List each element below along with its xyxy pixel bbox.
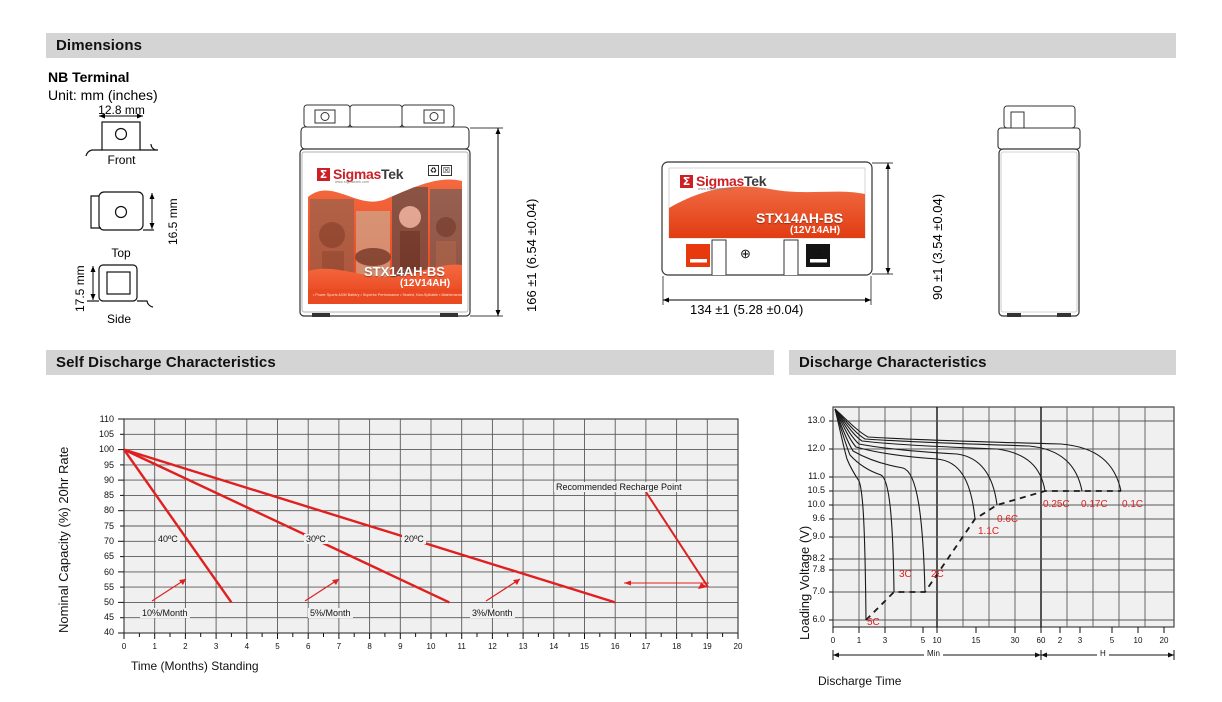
brand-url: www.sigmastek.com [335,180,369,184]
brand-url: www.sigmastek.com [698,187,732,191]
x-tick-8: 8 [360,642,380,651]
dx-tick-30: 30 [1007,636,1023,645]
rate-label-0-17c: 0.17C [1081,499,1108,510]
x-tick-11: 11 [452,642,472,651]
y-tick-75: 75 [76,521,114,531]
dx-tick-60: 60 [1033,636,1049,645]
rate-label-0-1c: 0.1C [1122,499,1143,510]
x-tick-7: 7 [329,642,349,651]
y-tick-45: 45 [76,612,114,622]
annotation-10-pct-month: 10%/Month [140,608,190,618]
dy-tick-9-6: 9.6 [789,513,825,523]
y-tick-105: 105 [76,429,114,439]
battery-height-dimension: 166 ±1 (6.54 ±0.04) [524,199,539,312]
x-tick-16: 16 [605,642,625,651]
section-title-discharge: Discharge Characteristics [799,354,987,371]
annotation-5-pct-month: 5%/Month [308,608,353,618]
terminal-width-label: 12.8 mm [79,103,164,117]
x-range-hours-label: H [1097,649,1109,658]
x-tick-19: 19 [697,642,717,651]
eco-icons: ♻ ☒ [428,165,452,176]
x-tick-13: 13 [513,642,533,651]
x-tick-1: 1 [145,642,165,651]
battery-capacity-top: (12V14AH) [790,225,840,236]
section-header-dimensions: Dimensions [46,33,1176,58]
dx-tick-h20: 20 [1156,636,1172,645]
self-discharge-chart: Nominal Capacity (%) 20hr Rate [46,405,746,675]
terminal-positive-icon: ⊕ [740,246,751,262]
section-title-dimensions: Dimensions [56,37,142,54]
x-tick-5: 5 [268,642,288,651]
dy-tick-10-5: 10.5 [789,485,825,495]
x-tick-4: 4 [237,642,257,651]
terminal-view-side-label: Side [94,312,144,326]
battery-front-view: Σ SigmasTek www.sigmastek.com ♻ ☒ STX14A… [298,104,508,322]
x-tick-2: 2 [175,642,195,651]
annotation-recommended-recharge-point: Recommended Recharge Point [554,482,684,492]
y-tick-90: 90 [76,475,114,485]
dy-tick-10-0: 10.0 [789,499,825,509]
annotation-40c: 40ºC [156,534,180,544]
x-tick-18: 18 [667,642,687,651]
y-tick-85: 85 [76,490,114,500]
x-tick-3: 3 [206,642,226,651]
x-tick-10: 10 [421,642,441,651]
sigma-icon: Σ [317,168,330,181]
dy-tick-7-8: 7.8 [789,564,825,574]
x-tick-15: 15 [575,642,595,651]
battery-top-view: Σ SigmasTek www.sigmastek.com STX14AH-BS… [660,160,960,325]
dy-tick-12-0: 12.0 [789,443,825,453]
battery-side-outline-view [975,104,1135,322]
spec-sheet-page: Dimensions NB Terminal Unit: mm (inches) [0,0,1222,702]
recycle-icon: ♻ [428,165,439,176]
dy-tick-8-2: 8.2 [789,553,825,563]
x-tick-20: 20 [728,642,748,651]
terminal-view-front-label: Front [94,153,149,167]
rate-label-1-1c: 1.1C [978,526,999,537]
dy-tick-11-0: 11.0 [789,471,825,481]
y-tick-60: 60 [76,567,114,577]
terminal-height-label: 16.5 mm [166,198,180,245]
annotation-3-pct-month: 3%/Month [470,608,515,618]
dx-tick-15: 15 [968,636,984,645]
waste-bin-icon: ☒ [441,165,452,176]
unit-label: Unit: mm (inches) [48,87,158,103]
nb-terminal-heading: NB Terminal [48,69,129,85]
sigma-icon: Σ [680,175,693,188]
x-tick-0: 0 [114,642,134,651]
dx-tick-0: 0 [825,636,841,645]
dy-tick-6-0: 6.0 [789,614,825,624]
annotation-30c: 30ºC [304,534,328,544]
rate-label-0-6c: 0.6C [997,514,1018,525]
x-tick-6: 6 [298,642,318,651]
section-header-discharge: Discharge Characteristics [789,350,1176,375]
battery-model-front: STX14AH-BS [364,264,445,279]
discharge-chart: Loading Voltage (V) [789,395,1189,695]
self-discharge-plot [46,405,746,675]
rate-label-0-25c: 0.25C [1043,499,1070,510]
section-header-self-discharge: Self Discharge Characteristics [46,350,774,375]
dy-tick-9-0: 9.0 [789,531,825,541]
y-tick-55: 55 [76,582,114,592]
rate-label-2c: 2C [931,569,944,580]
dx-tick-3: 3 [877,636,893,645]
x-tick-9: 9 [390,642,410,651]
x-tick-12: 12 [482,642,502,651]
y-tick-65: 65 [76,551,114,561]
battery-model-top: STX14AH-BS [756,210,843,226]
dy-tick-13-0: 13.0 [789,415,825,425]
battery-capacity-front: (12V14AH) [400,278,450,289]
x-tick-17: 17 [636,642,656,651]
x-tick-14: 14 [544,642,564,651]
y-tick-110: 110 [76,414,114,424]
dx-tick-h10: 10 [1130,636,1146,645]
section-title-self-discharge: Self Discharge Characteristics [56,354,276,371]
y-tick-100: 100 [76,444,114,454]
y-tick-80: 80 [76,505,114,515]
terminal-depth-label: 17.5 mm [73,265,87,312]
battery-width-dimension: 134 ±1 (5.28 ±0.04) [690,302,803,317]
dx-tick-10: 10 [929,636,945,645]
battery-front-label: Σ SigmasTek www.sigmastek.com ♻ ☒ STX14A… [308,159,462,304]
dy-tick-7-0: 7.0 [789,586,825,596]
y-tick-70: 70 [76,536,114,546]
rate-label-3c: 3C [899,569,912,580]
y-tick-40: 40 [76,627,114,637]
x-range-minutes-label: Min [924,649,943,658]
rate-label-5c: 5C [867,617,880,628]
battery-tagline: • Power Sports AGM Battery • Superior Pe… [313,293,462,297]
dx-tick-1: 1 [851,636,867,645]
discharge-x-axis-title: Discharge Time [818,674,901,688]
dx-tick-h5: 5 [1104,636,1120,645]
dx-tick-h2: 2 [1052,636,1068,645]
annotation-20c: 20ºC [402,534,426,544]
y-tick-95: 95 [76,460,114,470]
terminal-view-top-label: Top [96,246,146,260]
battery-side-height-dimension: 90 ±1 (3.54 ±0.04) [930,194,945,300]
self-discharge-x-axis-title: Time (Months) Standing [131,659,259,673]
dx-tick-h3: 3 [1072,636,1088,645]
terminal-negative-icon: ⊖ [812,246,823,262]
y-tick-50: 50 [76,597,114,607]
